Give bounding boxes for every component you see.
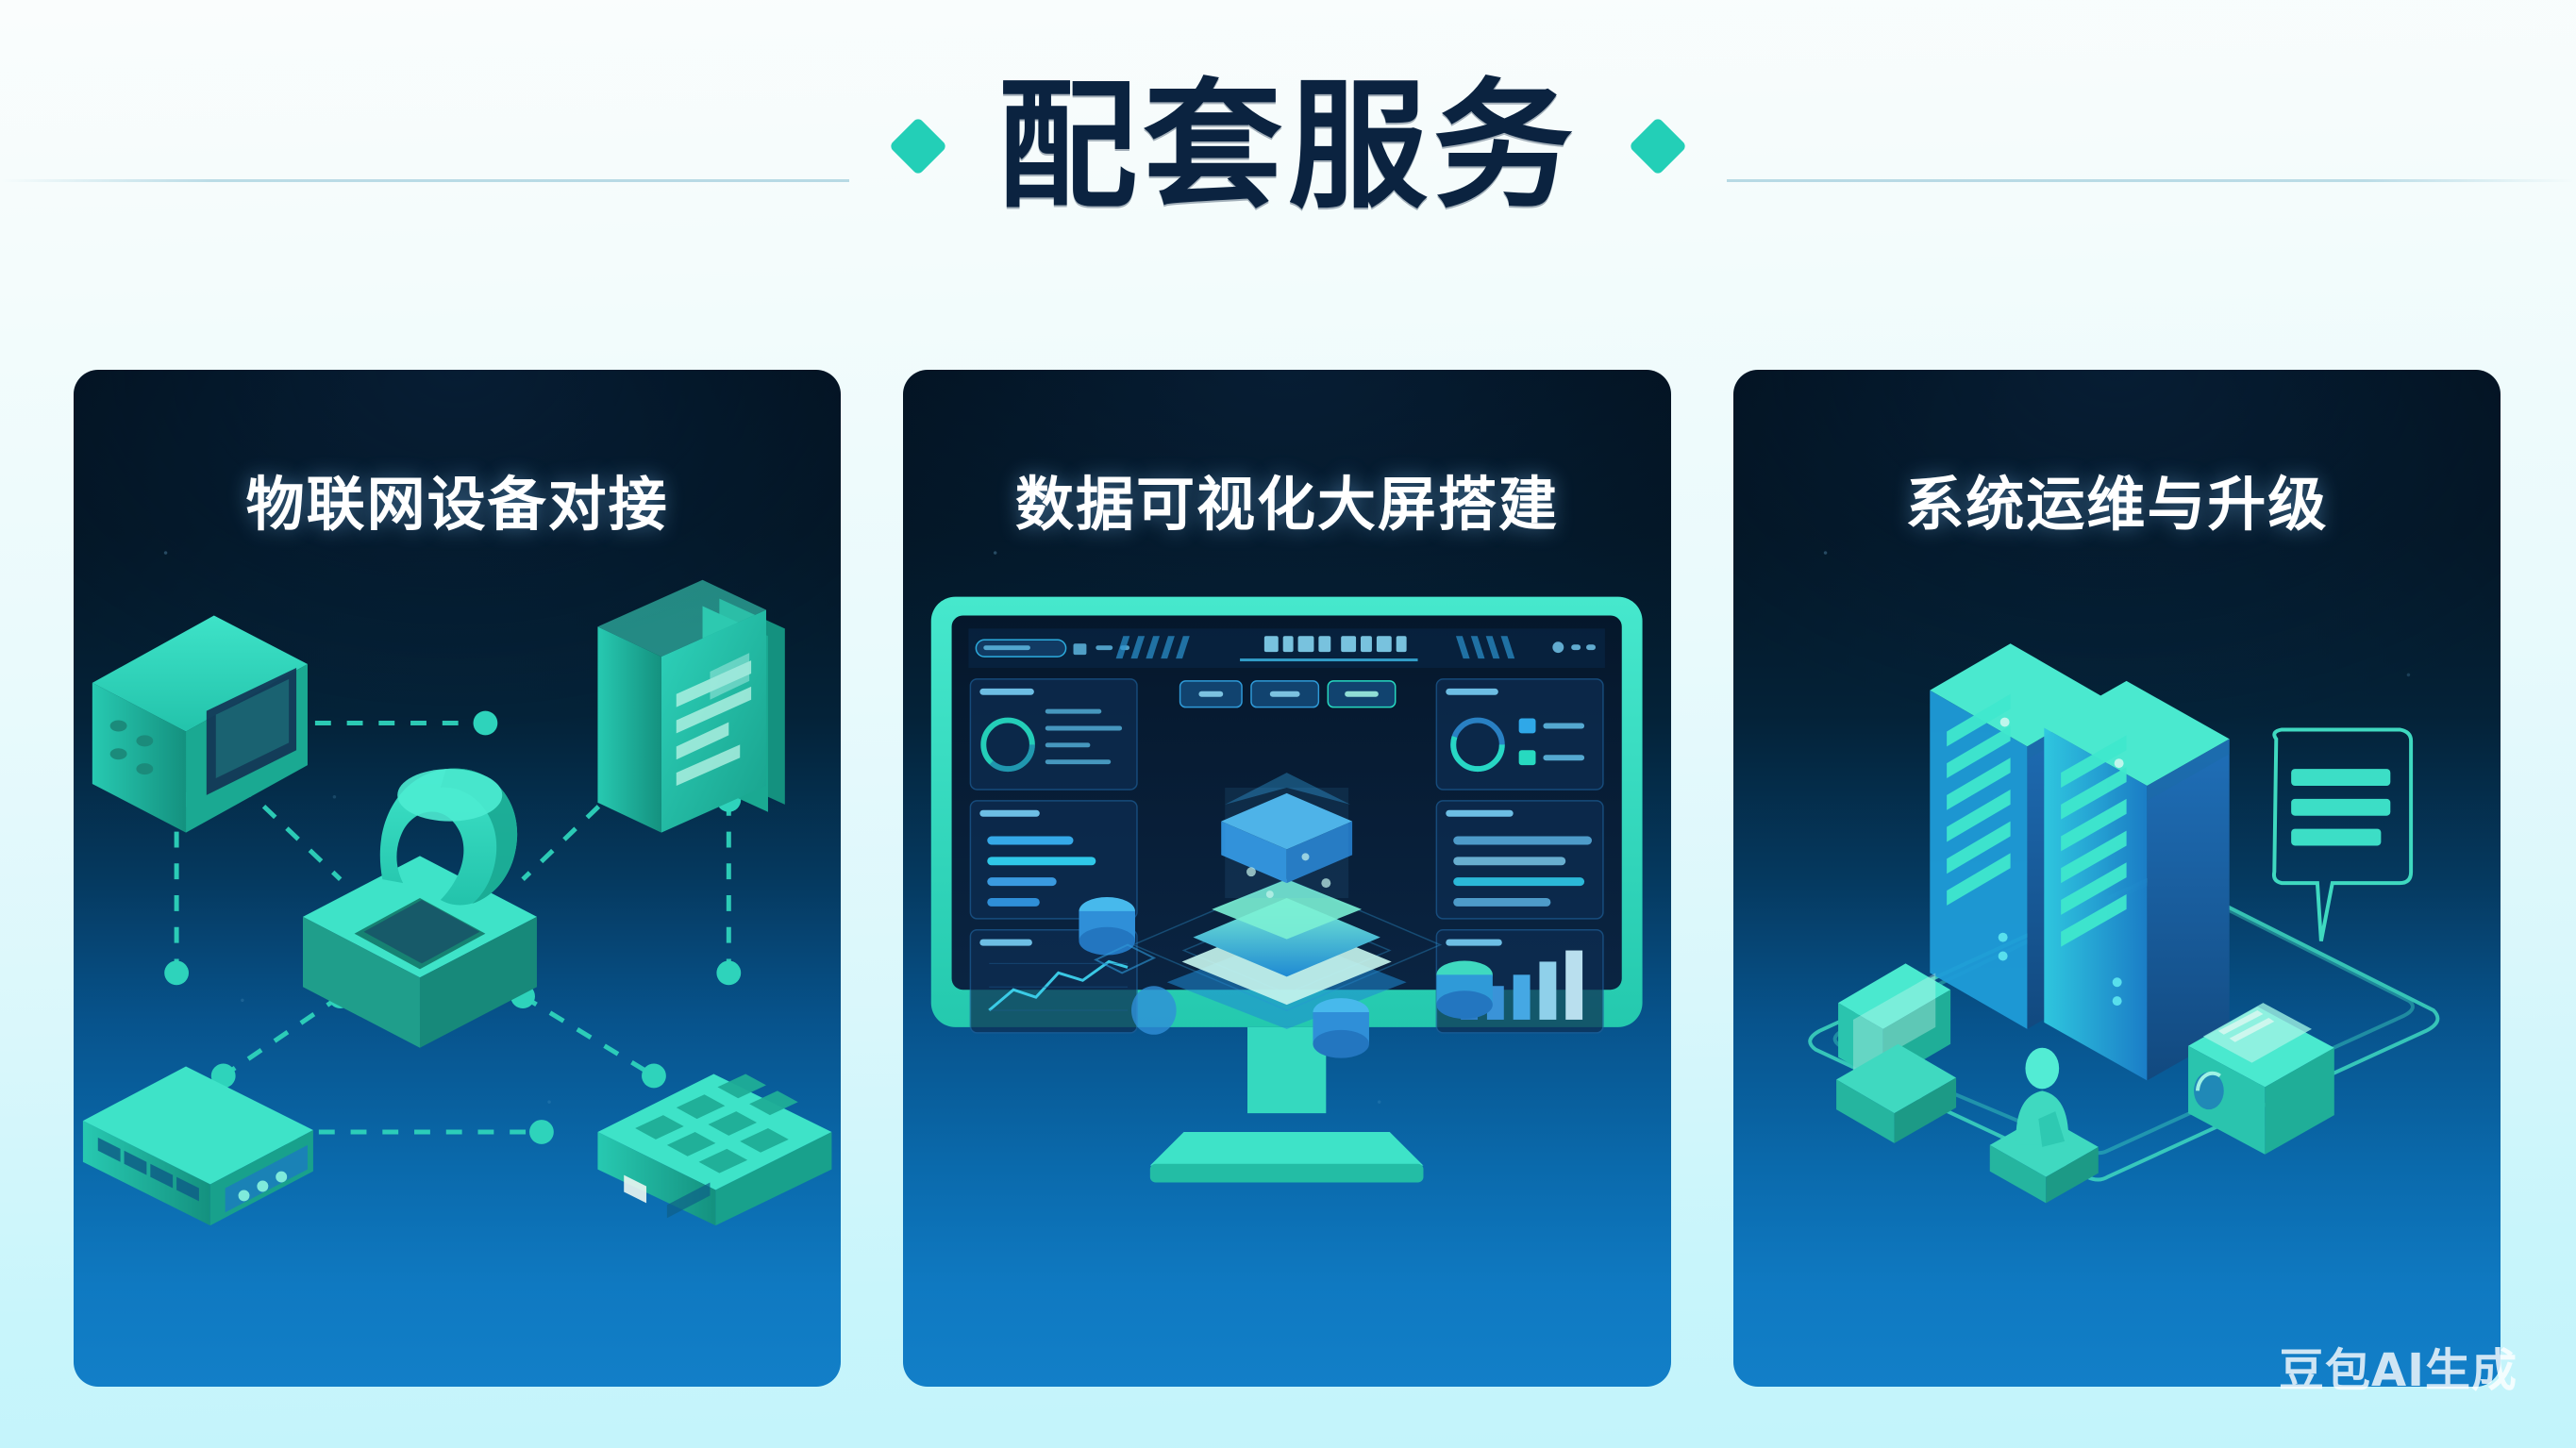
watermark-label: 豆包AI生成 (2279, 1333, 2517, 1399)
server-rack-illustration (1733, 568, 2501, 1228)
ops-engineer-figure (1989, 1048, 2098, 1204)
service-card-iot-device-integration[interactable]: 物联网设备对接 (74, 370, 841, 1387)
iot-network-switch (83, 1067, 313, 1226)
ops-workstation-monitor (1836, 963, 1956, 1142)
service-card-grid: 物联网设备对接 (74, 370, 2501, 1387)
service-card-data-visualization-dashboard[interactable]: 数据可视化大屏搭建 (903, 370, 1670, 1387)
card-title: 数据可视化大屏搭建 (903, 457, 1670, 541)
page-header: 配套服务 (0, 0, 2576, 321)
dashboard-monitor-illustration (903, 568, 1670, 1228)
server-rack-front (2044, 681, 2229, 1081)
iot-network-illustration (74, 568, 841, 1228)
diamond-icon-right (1629, 117, 1687, 175)
iot-controller-box (92, 615, 308, 832)
card-title: 系统运维与升级 (1733, 457, 2501, 541)
page-title: 配套服务 (939, 76, 1637, 216)
iot-document-stack (597, 580, 784, 833)
service-card-system-ops-and-upgrade[interactable]: 系统运维与升级 (1733, 370, 2501, 1387)
iot-keypad-module (597, 1074, 831, 1225)
ops-info-panel (2274, 729, 2411, 940)
card-title: 物联网设备对接 (74, 457, 841, 541)
title-row: 配套服务 (0, 38, 2576, 255)
